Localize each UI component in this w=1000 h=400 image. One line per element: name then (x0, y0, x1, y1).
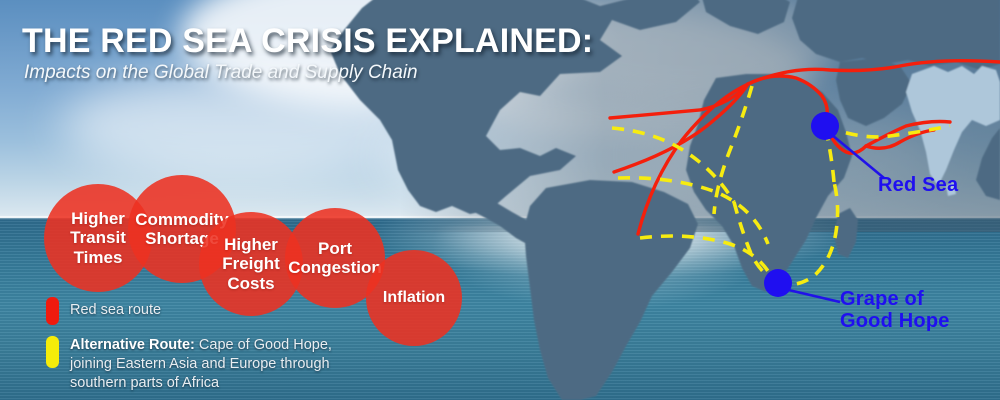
legend-item-alternative-route: Alternative Route: Cape of Good Hope, jo… (46, 336, 376, 393)
map-label-grape-of-good-hope: Grape of Good Hope (840, 288, 950, 333)
land-southeast-asia (976, 128, 1000, 200)
impact-bubble-label: Higher Freight Costs (222, 235, 280, 292)
bubble-inflation[interactable]: Inflation (366, 250, 462, 346)
marker-grape-of-good-hope (764, 269, 792, 297)
legend-swatch-yellow (46, 336, 59, 368)
land-greenland (700, 0, 790, 34)
legend-item-red-sea-route: Red sea route (46, 297, 161, 325)
page-subtitle: Impacts on the Global Trade and Supply C… (24, 62, 418, 84)
impact-bubble-label: Port Congestion (288, 239, 382, 277)
legend-label-alternative-route: Alternative Route: Cape of Good Hope, jo… (70, 336, 376, 393)
legend-swatch-red (46, 297, 59, 325)
map-label-red-sea: Red Sea (878, 174, 958, 196)
page-title: THE RED SEA CRISIS EXPLAINED: (22, 22, 593, 61)
impact-bubble-label: Higher Transit Times (70, 209, 126, 266)
marker-red-sea (811, 112, 839, 140)
impact-bubble-label: Inflation (383, 289, 445, 307)
land-south-america (524, 180, 698, 400)
legend-label-alternative-route-title: Alternative Route: (70, 337, 195, 353)
infographic-root: THE RED SEA CRISIS EXPLAINED: Impacts on… (0, 0, 1000, 400)
legend-label-red-sea-route: Red sea route (70, 297, 161, 320)
